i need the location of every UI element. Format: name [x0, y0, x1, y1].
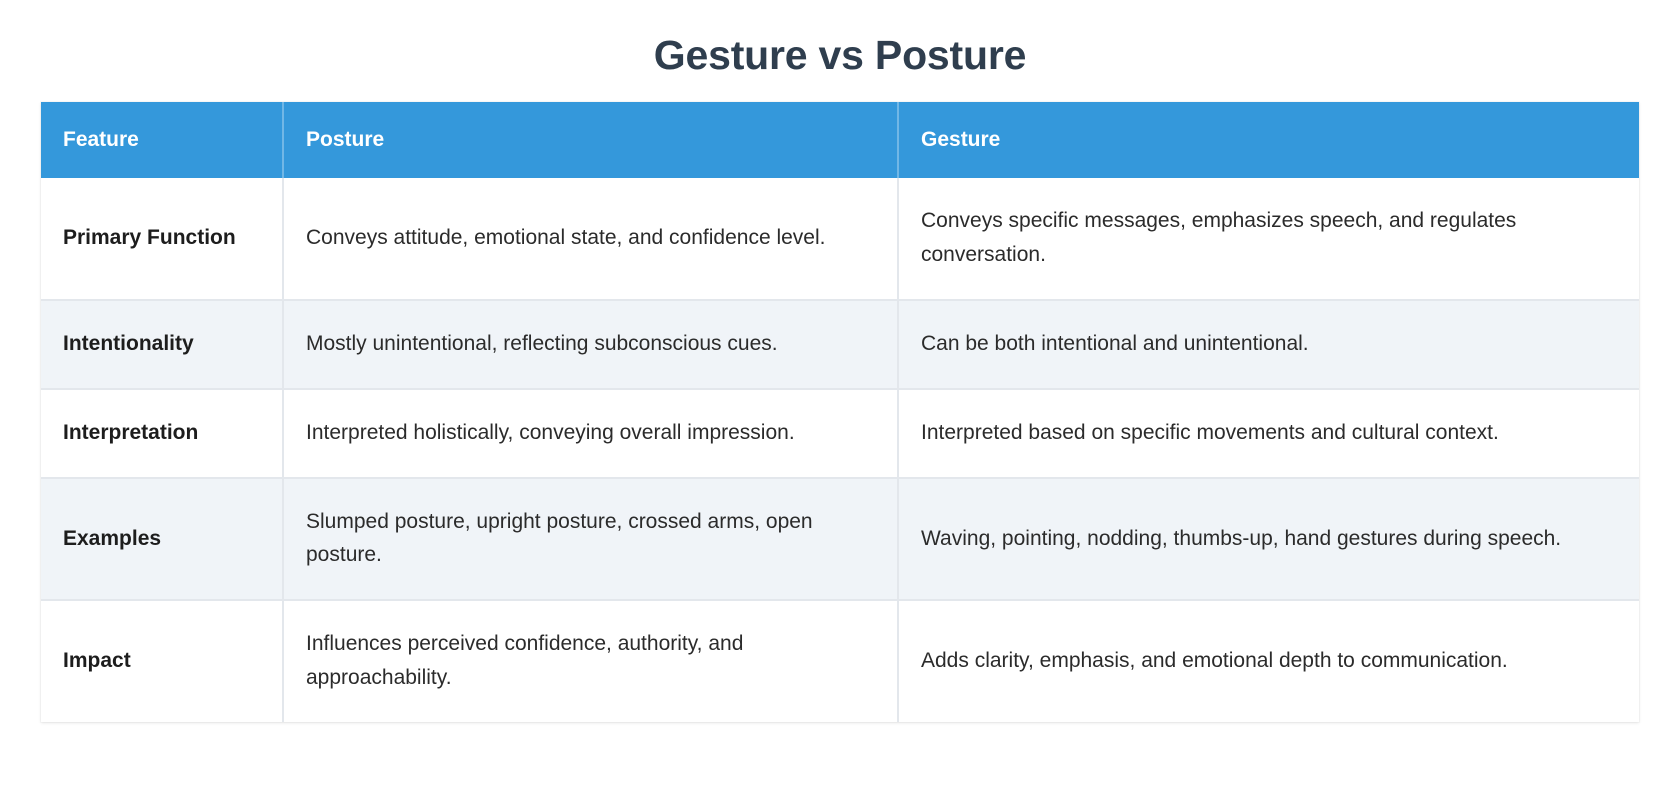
cell-gesture: Interpreted based on specific movements …: [898, 389, 1639, 478]
table-row: Primary Function Conveys attitude, emoti…: [41, 178, 1639, 299]
table-row: Interpretation Interpreted holistically,…: [41, 389, 1639, 478]
cell-posture: Interpreted holistically, conveying over…: [283, 389, 898, 478]
cell-feature: Primary Function: [41, 178, 283, 299]
cell-posture: Slumped posture, upright posture, crosse…: [283, 478, 898, 600]
cell-posture: Mostly unintentional, reflecting subcons…: [283, 300, 898, 389]
document-page: Gesture vs Posture Feature Posture Gestu…: [0, 0, 1680, 808]
cell-gesture: Adds clarity, emphasis, and emotional de…: [898, 600, 1639, 721]
cell-posture: Conveys attitude, emotional state, and c…: [283, 178, 898, 299]
cell-feature: Impact: [41, 600, 283, 721]
cell-gesture: Waving, pointing, nodding, thumbs-up, ha…: [898, 478, 1639, 600]
table-row: Examples Slumped posture, upright postur…: [41, 478, 1639, 600]
column-header-feature[interactable]: Feature: [41, 102, 283, 178]
table-row: Intentionality Mostly unintentional, ref…: [41, 300, 1639, 389]
cell-feature: Examples: [41, 478, 283, 600]
cell-feature: Interpretation: [41, 389, 283, 478]
column-header-posture[interactable]: Posture: [283, 102, 898, 178]
comparison-table: Feature Posture Gesture Primary Function…: [41, 102, 1639, 722]
page-title: Gesture vs Posture: [0, 0, 1680, 80]
table-body: Primary Function Conveys attitude, emoti…: [41, 178, 1639, 721]
cell-gesture: Can be both intentional and unintentiona…: [898, 300, 1639, 389]
table-row: Impact Influences perceived confidence, …: [41, 600, 1639, 721]
cell-feature: Intentionality: [41, 300, 283, 389]
comparison-table-container: Feature Posture Gesture Primary Function…: [41, 102, 1639, 722]
cell-posture: Influences perceived confidence, authori…: [283, 600, 898, 721]
table-header: Feature Posture Gesture: [41, 102, 1639, 178]
table-header-row: Feature Posture Gesture: [41, 102, 1639, 178]
cell-gesture: Conveys specific messages, emphasizes sp…: [898, 178, 1639, 299]
column-header-gesture[interactable]: Gesture: [898, 102, 1639, 178]
